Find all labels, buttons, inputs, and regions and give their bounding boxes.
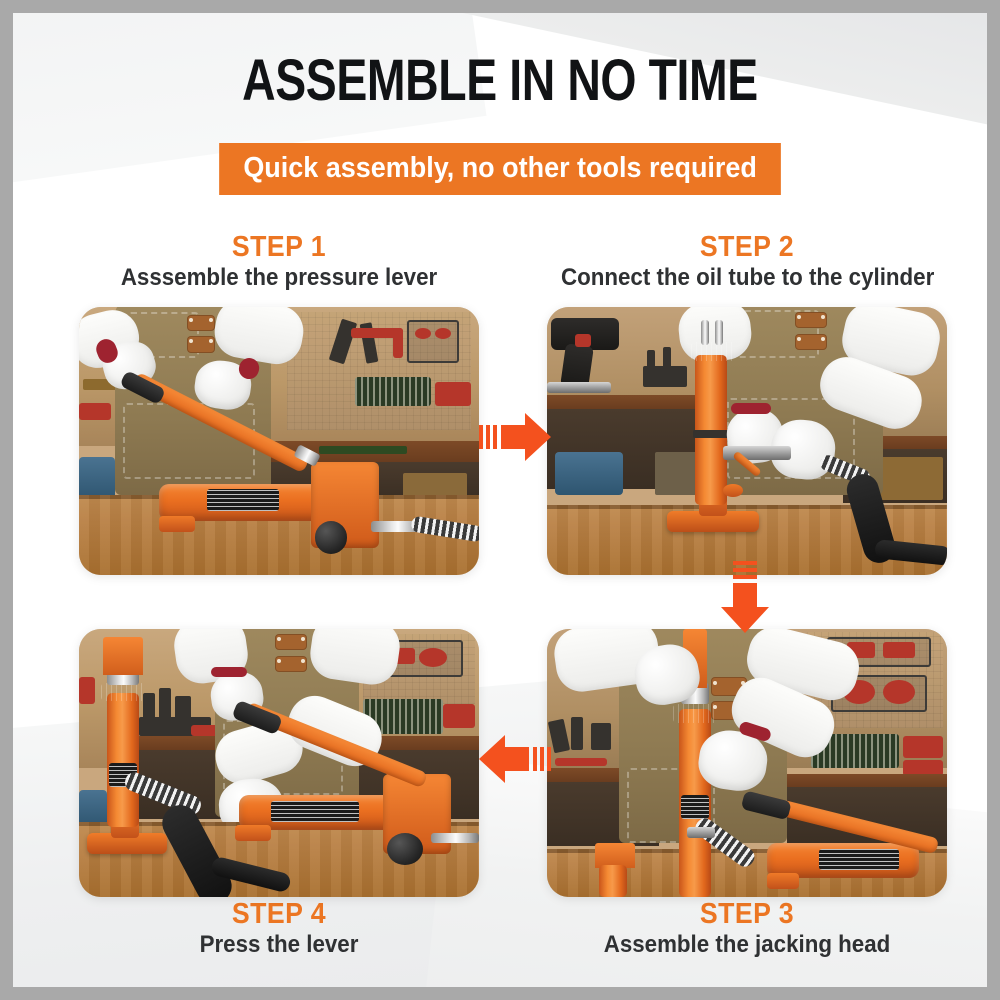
step-3-description: Assemble the jacking head [561, 930, 933, 960]
step-4-photo [79, 629, 479, 897]
arrow-step3-to-step4 [479, 727, 551, 791]
step-3-photo [547, 629, 947, 897]
outer-frame: ASSEMBLE IN NO TIME Quick assembly, no o… [0, 0, 1000, 1000]
subtitle-banner-wrap: Quick assembly, no other tools required [13, 143, 987, 195]
page-canvas: ASSEMBLE IN NO TIME Quick assembly, no o… [13, 13, 987, 987]
step-4-description: Press the lever [93, 930, 465, 960]
step-2-caption: STEP 2 Connect the oil tube to the cylin… [547, 231, 947, 293]
step-1-number: STEP 1 [95, 231, 463, 263]
step-1-caption: STEP 1 Asssemble the pressure lever [79, 231, 479, 293]
step-4-caption: STEP 4 Press the lever [79, 898, 479, 960]
step-1-description: Asssemble the pressure lever [93, 263, 465, 293]
step-4-number: STEP 4 [95, 898, 463, 930]
arrow-step2-to-step3 [713, 561, 777, 633]
arrow-step1-to-step2 [479, 405, 551, 469]
arrow-left-icon [479, 727, 551, 791]
step-1-photo [79, 307, 479, 575]
arrow-down-icon [713, 561, 777, 633]
arrow-right-icon [479, 405, 551, 469]
step-2-description: Connect the oil tube to the cylinder [561, 263, 933, 293]
step-2-number: STEP 2 [563, 231, 931, 263]
subtitle-banner: Quick assembly, no other tools required [219, 143, 781, 195]
page-title: ASSEMBLE IN NO TIME [110, 47, 889, 114]
step-3-caption: STEP 3 Assemble the jacking head [547, 898, 947, 960]
step-2-photo [547, 307, 947, 575]
step-3-number: STEP 3 [563, 898, 931, 930]
